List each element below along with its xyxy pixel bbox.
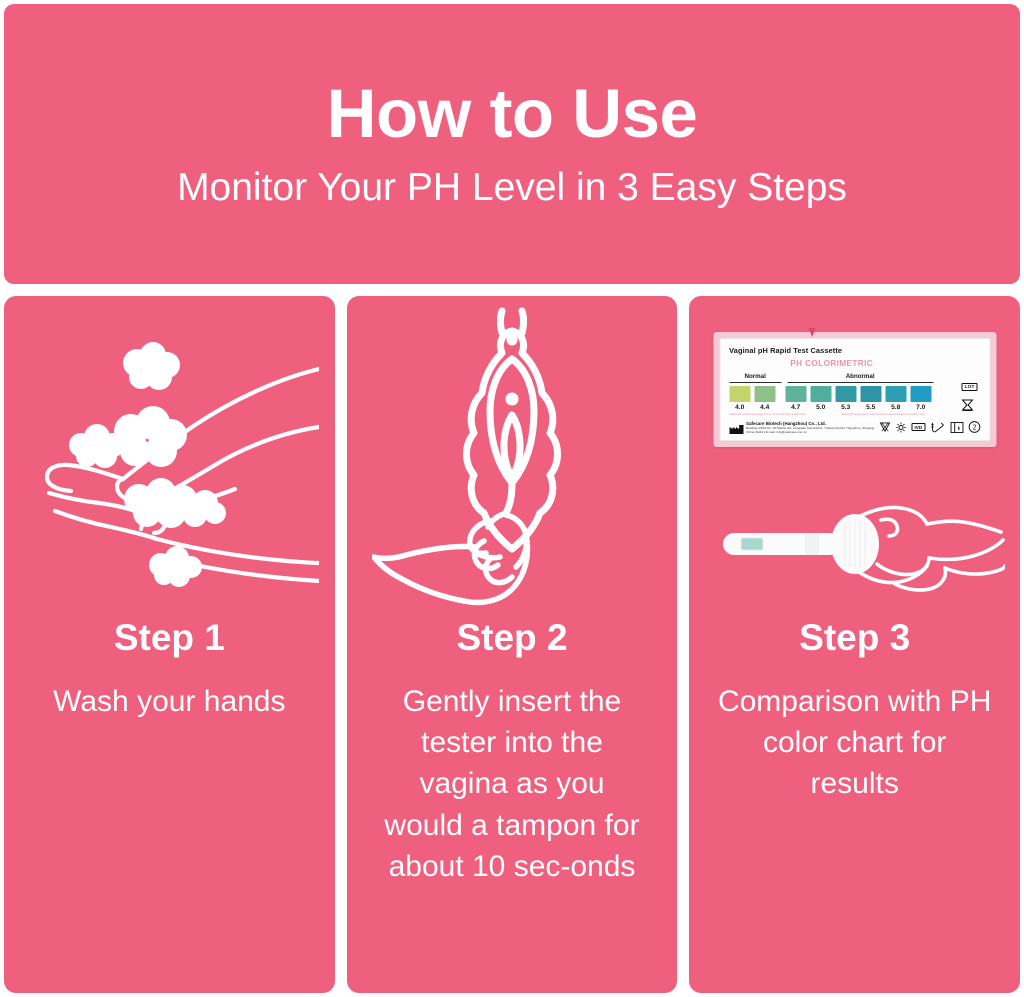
lot-icon: LOT <box>961 383 978 391</box>
cassette-outer-frame: Vaginal pH Rapid Test Cassette PH COLORI… <box>713 332 996 447</box>
how-to-use-infographic: How to Use Monitor Your PH Level in 3 Ea… <box>0 0 1024 997</box>
steps-row: Step 1 Wash your hands <box>4 296 1020 993</box>
abnormal-heading: Abnormal <box>787 373 933 383</box>
keep-away-from-sunlight-icon <box>896 422 907 433</box>
note-abnormal: Vaginal pH Levels over 4.4 are bacteria … <box>841 413 941 416</box>
step-card-1: Step 1 Wash your hands <box>4 296 335 993</box>
step-1-label: Step 1 <box>114 618 225 659</box>
swatch-normal-1 <box>754 386 775 402</box>
ph-color-chart-cassette: Vaginal pH Rapid Test Cassette PH COLORI… <box>713 332 996 447</box>
normal-heading: Normal <box>729 373 781 383</box>
value-normal-0: 4.0 <box>729 404 750 411</box>
value-abnormal-1: 5.0 <box>810 404 831 411</box>
expiry-hourglass-icon <box>961 399 980 412</box>
value-abnormal-2: 5.3 <box>835 404 856 411</box>
hand-holding-swab-illustration <box>689 488 1020 608</box>
step-card-2: Step 2 Gently insert the tester into the… <box>347 296 678 993</box>
do-not-reuse-triangle-icon <box>880 422 891 433</box>
swatch-abnormal-2 <box>835 386 856 402</box>
note-normal: Vaginal pH Levels in the range of 4 to 4… <box>729 413 829 416</box>
value-abnormal-0: 4.7 <box>785 404 806 411</box>
manufacturer-address: Building 2/203,No. 18 Haishu Rd. Cangqia… <box>746 426 879 434</box>
step-3-label: Step 3 <box>799 618 910 659</box>
swatch-abnormal-3 <box>860 386 881 402</box>
step-card-3: Vaginal pH Rapid Test Cassette PH COLORI… <box>689 296 1020 993</box>
value-normal-1: 4.4 <box>754 404 775 411</box>
swatch-abnormal-5 <box>910 386 931 402</box>
ph-scale: Normal Abnormal <box>729 373 953 416</box>
cassette-title: Vaginal pH Rapid Test Cassette <box>729 346 980 355</box>
swatch-abnormal-1 <box>810 386 831 402</box>
step-2-label: Step 2 <box>456 618 567 659</box>
consult-instructions-icon <box>950 422 963 433</box>
ph-swatch-row <box>729 386 953 402</box>
page-subtitle: Monitor Your PH Level in 3 Easy Steps <box>177 167 847 210</box>
temperature-range-icon <box>930 422 945 433</box>
svg-text:2: 2 <box>972 425 976 432</box>
step-3-description: Comparison with PH color chart for resul… <box>715 681 994 805</box>
hand-inserting-tester-icon <box>347 296 678 618</box>
swatch-normal-0 <box>729 386 750 402</box>
value-abnormal-4: 5.8 <box>885 404 906 411</box>
single-use-icon: 2 <box>968 421 980 433</box>
page-title: How to Use <box>327 78 698 150</box>
cassette-notch <box>809 328 816 337</box>
ivd-icon: IVD <box>912 423 926 431</box>
manufacturer-name: Safecare Biotech (Hangzhou) Co., Ltd. <box>746 421 879 426</box>
cassette-inner-card: Vaginal pH Rapid Test Cassette PH COLORI… <box>719 338 990 441</box>
ph-chart-and-swab-art: Vaginal pH Rapid Test Cassette PH COLORI… <box>689 296 1020 618</box>
value-abnormal-5: 7.0 <box>910 404 931 411</box>
value-abnormal-3: 5.5 <box>860 404 881 411</box>
step-2-description: Gently insert the tester into the vagina… <box>377 681 648 888</box>
swatch-abnormal-0 <box>785 386 806 402</box>
step-1-description: Wash your hands <box>53 681 285 722</box>
manufacturer-icon <box>729 425 743 434</box>
swatch-abnormal-4 <box>885 386 906 402</box>
washing-hands-icon <box>4 296 335 618</box>
ph-value-row: 4.0 4.4 4.7 5.0 5.3 5.5 5.8 7.0 <box>729 404 953 411</box>
header-banner: How to Use Monitor Your PH Level in 3 Ea… <box>4 4 1020 284</box>
cassette-subtitle: PH COLORIMETRIC <box>729 359 980 368</box>
